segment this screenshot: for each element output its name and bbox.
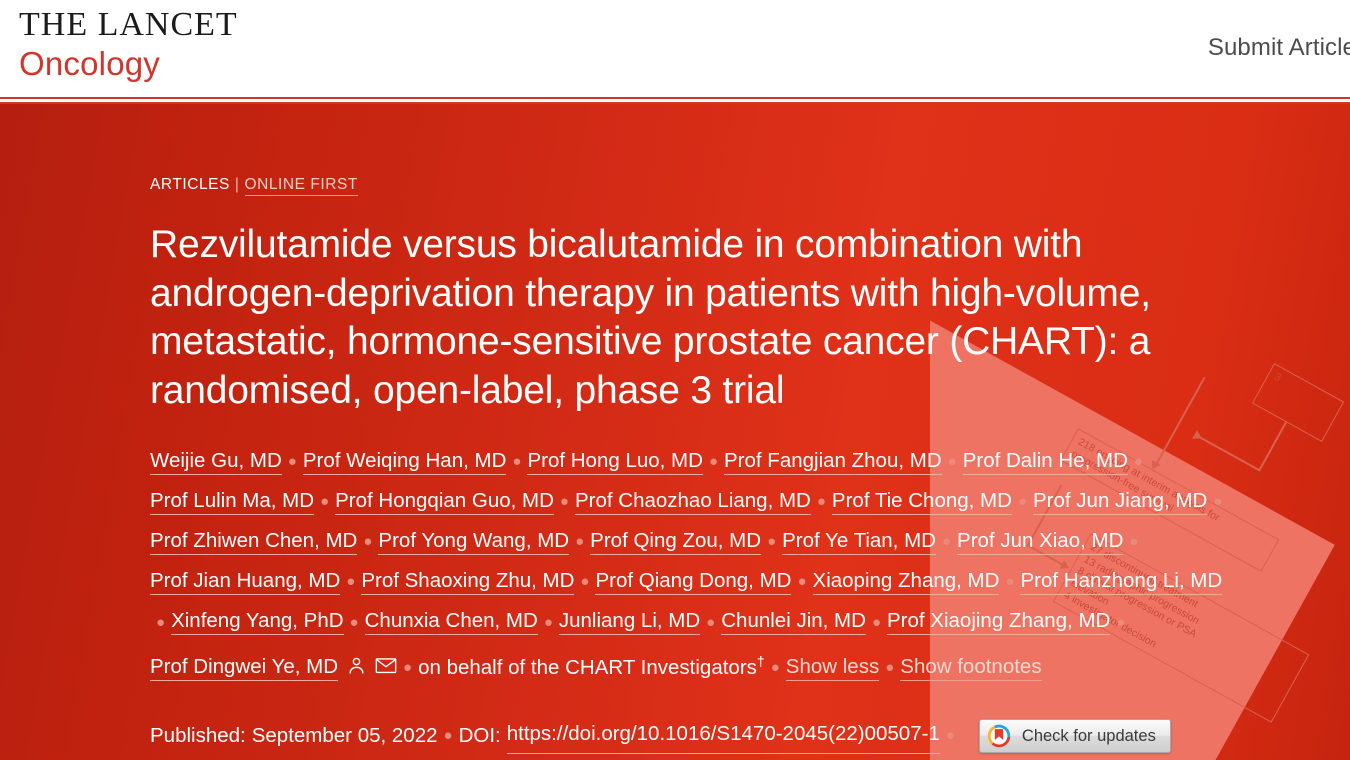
publication-info: Published:September 05, 2022●DOI:https:/…: [150, 717, 1270, 754]
author-separator-dot: ●: [872, 603, 881, 642]
group-author-label: on behalf of the CHART Investigators: [418, 655, 757, 678]
author-link[interactable]: Prof Ye Tian, MD: [782, 529, 936, 555]
author-separator-dot: ●: [363, 522, 372, 561]
author-link[interactable]: Prof Lulin Ma, MD: [150, 489, 314, 515]
article-hero-banner: 3 218 ongoing at interim analysis for pr…: [0, 104, 1350, 760]
page-title: Rezvilutamide versus bicalutamide in com…: [150, 221, 1255, 415]
author-separator-dot: ●: [580, 562, 589, 601]
author-separator-dot: ●: [817, 482, 826, 521]
author-separator-dot: ●: [797, 562, 806, 601]
author-link[interactable]: Prof Dalin He, MD: [963, 449, 1128, 475]
doi-link[interactable]: https://doi.org/10.1016/S1470-2045(22)00…: [507, 717, 940, 754]
author-separator-dot: ●: [560, 482, 569, 521]
author-link[interactable]: Prof Xiaojing Zhang, MD: [887, 609, 1110, 635]
author-link[interactable]: Chunxia Chen, MD: [365, 609, 538, 635]
author-separator-dot: ●: [1213, 482, 1222, 521]
author-link[interactable]: Prof Qiang Dong, MD: [595, 569, 791, 595]
author-link[interactable]: Prof Chaozhao Liang, MD: [575, 489, 811, 515]
author-separator-dot: ●: [512, 442, 521, 481]
author-link[interactable]: Prof Tie Chong, MD: [832, 489, 1012, 515]
kicker-separator: |: [235, 176, 240, 193]
published-label: Published:: [150, 719, 246, 753]
envelope-icon[interactable]: [375, 655, 397, 676]
author-separator-dot: ●: [288, 442, 297, 481]
header-divider-top: [0, 97, 1350, 99]
author-separator-dot: ●: [948, 442, 957, 481]
publication-separator-dot: ●: [444, 719, 453, 753]
author-link[interactable]: Prof Zhiwen Chen, MD: [150, 529, 357, 555]
corresponding-author-link[interactable]: Prof Dingwei Ye, MD: [150, 655, 338, 681]
author-separator-dot: ●: [320, 482, 329, 521]
author-link[interactable]: Prof Hong Luo, MD: [527, 449, 702, 475]
kicker-section-label[interactable]: ARTICLES: [150, 176, 230, 193]
author-link[interactable]: Prof Hongqian Guo, MD: [335, 489, 554, 515]
author-link[interactable]: Weijie Gu, MD: [150, 449, 282, 475]
author-separator-dot: ●: [706, 603, 715, 642]
author-separator-dot: ●: [403, 648, 412, 687]
author-separator-dot: ●: [1005, 562, 1014, 601]
article-header-block: ARTICLES|ONLINE FIRST Rezvilutamide vers…: [150, 104, 1270, 754]
author-separator-dot: ●: [885, 648, 894, 687]
site-header: THE LANCET Oncology Submit Article: [0, 0, 1350, 104]
author-link[interactable]: Prof Qing Zou, MD: [590, 529, 761, 555]
author-link[interactable]: Prof Jian Huang, MD: [150, 569, 340, 595]
author-link[interactable]: Prof Hanzhong Li, MD: [1020, 569, 1222, 595]
doi-label: DOI:: [459, 719, 501, 753]
submit-article-link[interactable]: Submit Article: [1208, 34, 1350, 62]
author-separator-dot: ●: [350, 603, 359, 642]
journal-logo[interactable]: THE LANCET Oncology: [19, 8, 238, 80]
article-kicker: ARTICLES|ONLINE FIRST: [150, 176, 1270, 194]
check-for-updates-button[interactable]: Check for updates: [979, 719, 1171, 753]
author-link[interactable]: Prof Yong Wang, MD: [378, 529, 569, 555]
person-icon[interactable]: [346, 655, 367, 676]
author-separator-dot: ●: [771, 648, 780, 687]
author-separator-dot: ●: [709, 442, 718, 481]
author-separator-dot: ●: [156, 603, 165, 642]
kicker-status-label[interactable]: ONLINE FIRST: [245, 176, 358, 196]
author-separator-dot: ●: [1116, 603, 1125, 642]
journal-logo-lancet: THE LANCET: [19, 8, 238, 42]
publication-separator-dot: ●: [946, 719, 955, 753]
author-list: Weijie Gu, MD●Prof Weiqing Han, MD●Prof …: [150, 441, 1240, 687]
author-separator-dot: ●: [942, 522, 951, 561]
published-date: September 05, 2022: [252, 719, 438, 753]
author-link[interactable]: Prof Shaoxing Zhu, MD: [361, 569, 574, 595]
author-link[interactable]: Chunlei Jin, MD: [721, 609, 866, 635]
author-separator-dot: ●: [1134, 442, 1143, 481]
journal-logo-oncology: Oncology: [19, 47, 238, 80]
author-separator-dot: ●: [575, 522, 584, 561]
author-link[interactable]: Xinfeng Yang, PhD: [171, 609, 343, 635]
crossmark-icon: [986, 723, 1012, 749]
author-separator-dot: ●: [1129, 522, 1138, 561]
show-less-button[interactable]: Show less: [786, 655, 879, 681]
author-separator-dot: ●: [544, 603, 553, 642]
check-for-updates-label: Check for updates: [1022, 719, 1156, 753]
footnote-marker[interactable]: †: [757, 653, 765, 669]
author-link[interactable]: Junliang Li, MD: [559, 609, 700, 635]
author-link[interactable]: Prof Fangjian Zhou, MD: [724, 449, 942, 475]
author-link[interactable]: Prof Jun Xiao, MD: [957, 529, 1123, 555]
author-link[interactable]: Xiaoping Zhang, MD: [813, 569, 1000, 595]
author-separator-dot: ●: [346, 562, 355, 601]
author-link[interactable]: Prof Jun Jiang, MD: [1033, 489, 1207, 515]
author-link[interactable]: Prof Weiqing Han, MD: [303, 449, 507, 475]
show-footnotes-button[interactable]: Show footnotes: [900, 655, 1041, 681]
author-separator-dot: ●: [767, 522, 776, 561]
author-separator-dot: ●: [1018, 482, 1027, 521]
